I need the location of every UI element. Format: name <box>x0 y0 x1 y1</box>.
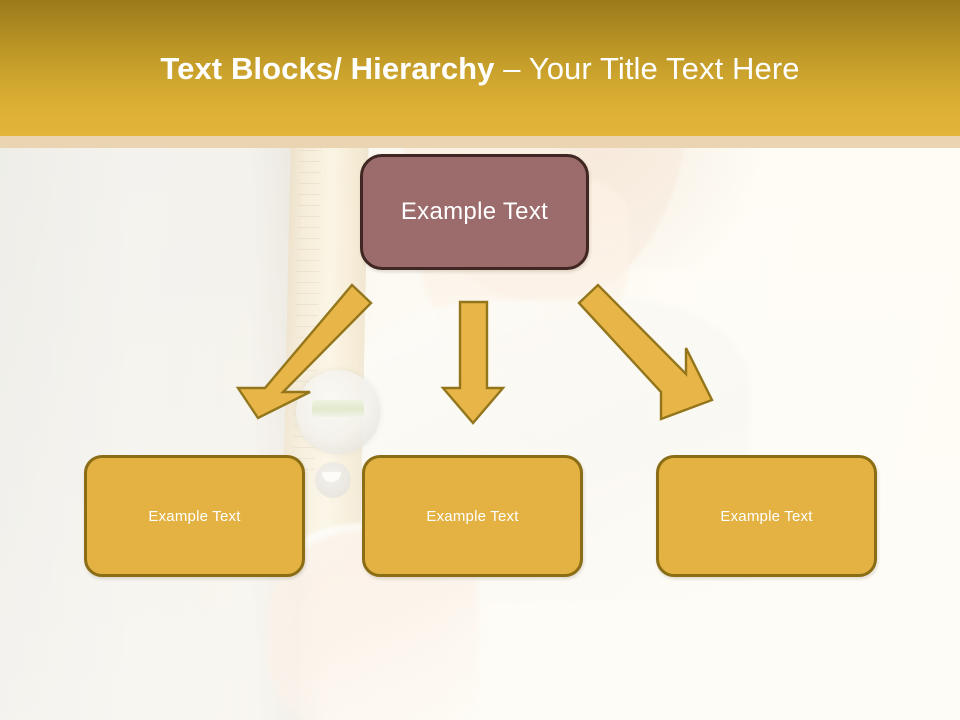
hierarchy-child-node-2[interactable]: Example Text <box>362 455 583 577</box>
hierarchy-child-node-3[interactable]: Example Text <box>656 455 877 577</box>
page-title: Text Blocks/ Hierarchy – Your Title Text… <box>0 50 960 88</box>
title-bar-accent-band <box>0 136 960 148</box>
hierarchy-child-node-1[interactable]: Example Text <box>84 455 305 577</box>
page-title-strong: Text Blocks/ Hierarchy <box>160 51 503 86</box>
hierarchy-child-label-2: Example Text <box>426 508 518 525</box>
hierarchy-child-label-1: Example Text <box>148 508 240 525</box>
hierarchy-root-label: Example Text <box>401 198 548 226</box>
page-title-light: Your Title Text Here <box>529 51 800 86</box>
title-bar: Text Blocks/ Hierarchy – Your Title Text… <box>0 0 960 136</box>
hierarchy-root-node[interactable]: Example Text <box>360 154 589 270</box>
slide-canvas: Text Blocks/ Hierarchy – Your Title Text… <box>0 0 960 720</box>
hierarchy-child-label-3: Example Text <box>720 508 812 525</box>
page-title-separator: – <box>503 51 529 86</box>
